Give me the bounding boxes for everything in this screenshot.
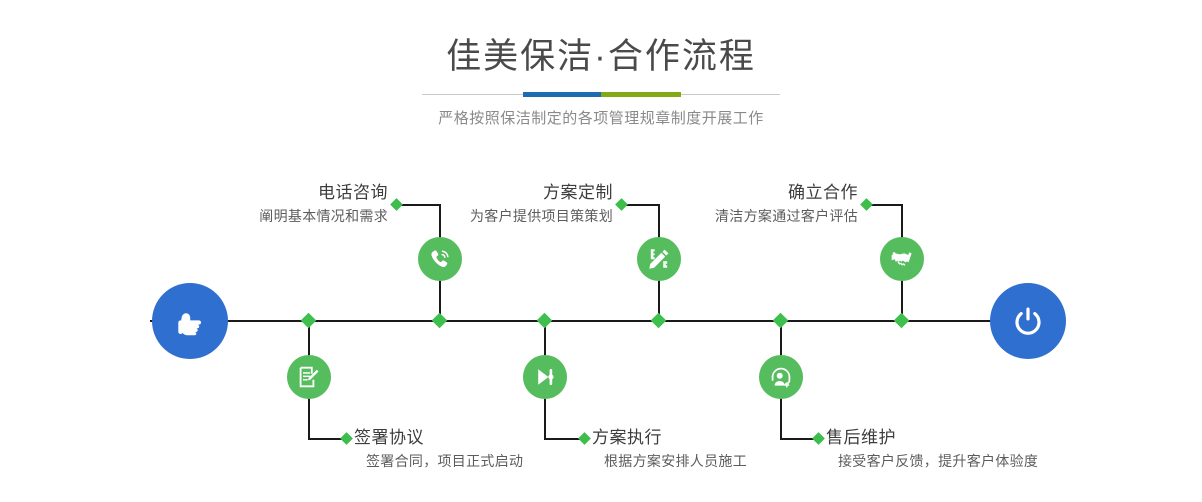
step-desc-2: 签署合同，项目正式启动 [354,451,523,472]
page-subtitle: 严格按照保洁制定的各项管理规章制度开展工作 [0,108,1202,130]
step-desc-5: 接受客户反馈，提升客户体验度 [826,451,1038,472]
step-title-4: 方案执行 [592,427,747,449]
divider-segment-green [601,92,681,97]
step-node-5[interactable] [759,355,803,399]
pencil-ruler-icon [646,246,672,272]
axis-marker-2 [301,313,317,329]
page-title: 佳美保洁·合作流程 [0,34,1202,80]
axis-marker-3 [651,313,667,329]
step-desc-4: 根据方案安排人员施工 [592,451,747,472]
step-node-1[interactable] [418,237,462,281]
step-label-1: 电话咨询 阐明基本情况和需求 [130,182,388,227]
play-skip-icon [532,364,558,390]
pointing-hand-icon [170,301,210,341]
axis-marker-4 [537,313,553,329]
step-marker-6 [860,198,873,211]
divider-segment-blue [523,92,601,97]
step-node-3[interactable] [637,237,681,281]
flow-end-node[interactable] [990,283,1066,359]
step-title-2: 签署协议 [354,427,523,449]
flow-start-node[interactable] [152,283,228,359]
step-node-6[interactable] [880,237,924,281]
step-desc-3: 为客户提供项目策策划 [355,206,613,227]
step-desc-6: 清洁方案通过客户评估 [600,206,858,227]
timeline-axis [150,320,1055,322]
step-label-2: 签署协议 签署合同，项目正式启动 [354,427,523,472]
step-marker-5 [812,432,825,445]
step-label-4: 方案执行 根据方案安排人员施工 [592,427,747,472]
step-desc-1: 阐明基本情况和需求 [130,206,388,227]
axis-marker-6 [894,313,910,329]
phone-call-icon [427,246,453,272]
handshake-icon [889,246,915,272]
step-title-6: 确立合作 [600,182,858,204]
document-edit-icon [296,364,322,390]
axis-marker-5 [773,313,789,329]
process-flow-page: 佳美保洁·合作流程 严格按照保洁制定的各项管理规章制度开展工作 [0,0,1202,502]
step-marker-2 [340,432,353,445]
step-title-1: 电话咨询 [130,182,388,204]
power-icon [1008,301,1048,341]
page-header: 佳美保洁·合作流程 严格按照保洁制定的各项管理规章制度开展工作 [0,34,1202,130]
step-node-4[interactable] [523,355,567,399]
step-node-2[interactable] [287,355,331,399]
step-marker-4 [578,432,591,445]
title-divider [422,91,780,99]
process-flow-diagram: 电话咨询 阐明基本情况和需求 方案定制 为客户提供项目策策划 [0,160,1202,490]
axis-marker-1 [432,313,448,329]
customer-support-icon [768,364,794,390]
step-title-5: 售后维护 [826,427,1038,449]
step-label-5: 售后维护 接受客户反馈，提升客户体验度 [826,427,1038,472]
